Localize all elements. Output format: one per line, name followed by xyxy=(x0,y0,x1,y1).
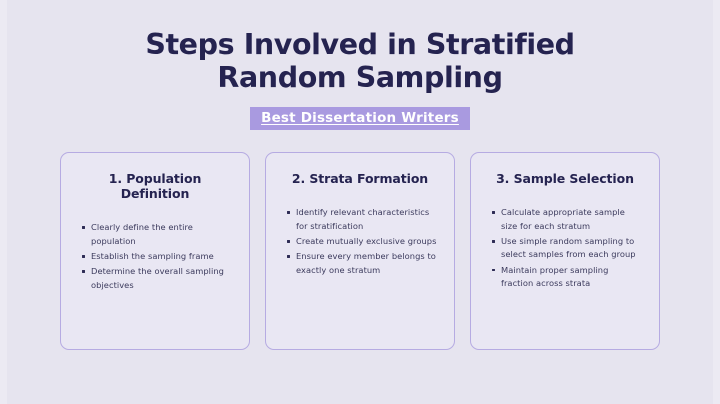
step-card-title: 1. Population Definition xyxy=(75,171,235,201)
step-card-2: 2. Strata Formation Identify relevant ch… xyxy=(265,152,455,350)
list-item: Clearly define the entire population xyxy=(91,221,233,248)
steps-card-group: 1. Population Definition Clearly define … xyxy=(60,152,660,350)
list-item: Establish the sampling frame xyxy=(91,250,233,263)
step-card-3: 3. Sample Selection Calculate appropriat… xyxy=(470,152,660,350)
infographic-slide: Steps Involved in Stratified Random Samp… xyxy=(0,0,720,404)
step-card-title: 3. Sample Selection xyxy=(485,171,645,186)
list-item: Use simple random sampling to select sam… xyxy=(501,235,643,262)
slide-header: Steps Involved in Stratified Random Samp… xyxy=(0,0,720,130)
badge-container: Best Dissertation Writers xyxy=(250,107,470,130)
step-card-title: 2. Strata Formation xyxy=(280,171,440,186)
list-item: Maintain proper sampling fraction across… xyxy=(501,264,643,291)
list-item: Calculate appropriate sample size for ea… xyxy=(501,206,643,233)
step-card-1: 1. Population Definition Clearly define … xyxy=(60,152,250,350)
list-item: Create mutually exclusive groups xyxy=(296,235,438,248)
list-item: Determine the overall sampling objective… xyxy=(91,265,233,292)
step-card-list: Clearly define the entire population Est… xyxy=(75,221,235,294)
step-card-list: Identify relevant characteristics for st… xyxy=(280,206,440,279)
step-card-list: Calculate appropriate sample size for ea… xyxy=(485,206,645,293)
page-title: Steps Involved in Stratified Random Samp… xyxy=(80,28,640,94)
list-item: Identify relevant characteristics for st… xyxy=(296,206,438,233)
brand-badge: Best Dissertation Writers xyxy=(250,107,470,130)
list-item: Ensure every member belongs to exactly o… xyxy=(296,250,438,277)
